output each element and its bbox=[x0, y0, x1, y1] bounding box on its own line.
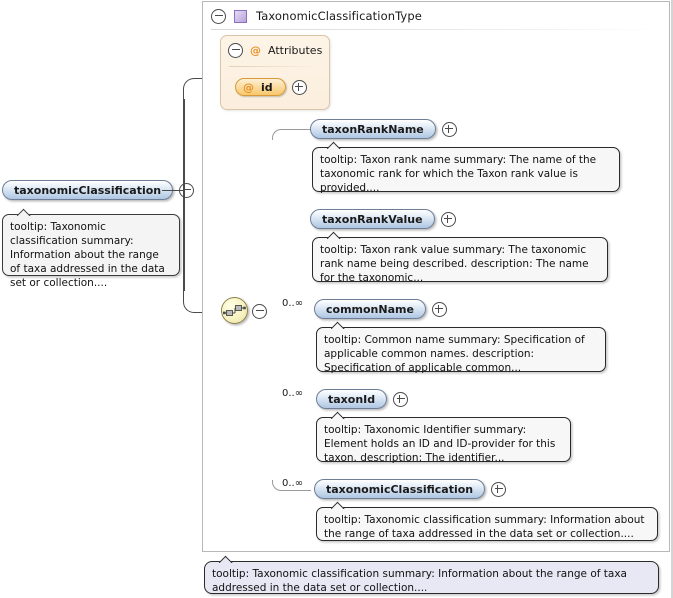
element-label-taxonomicClassification[interactable]: taxonomicClassification bbox=[314, 479, 485, 499]
element-expand-plus-icon[interactable] bbox=[393, 392, 408, 407]
tooltip-tail bbox=[17, 208, 31, 216]
at-symbol-icon: @ bbox=[250, 44, 261, 57]
root-element-label[interactable]: taxonomicClassification bbox=[2, 180, 173, 200]
element-node-taxonomicClassification[interactable]: taxonomicClassification bbox=[314, 479, 506, 499]
connector-vertical-down bbox=[183, 189, 185, 291]
header-divider bbox=[211, 29, 661, 30]
tree-corner-top bbox=[272, 129, 311, 140]
attributes-header: @ Attributes bbox=[228, 43, 322, 58]
element-tooltip-text: tooltip: Taxonomic Identifier summary: E… bbox=[324, 424, 555, 464]
tooltip-tail bbox=[331, 411, 345, 419]
cardinality-taxonId: 0..∞ bbox=[282, 388, 303, 399]
root-element-tooltip-text: tooltip: Taxonomic classification summar… bbox=[10, 221, 165, 289]
type-title: TaxonomicClassificationType bbox=[256, 9, 422, 23]
attribute-expand-plus-icon[interactable] bbox=[292, 80, 307, 95]
element-label-taxonId[interactable]: taxonId bbox=[316, 389, 387, 409]
element-expand-plus-icon[interactable] bbox=[442, 122, 457, 137]
at-symbol-icon: @ bbox=[243, 81, 254, 94]
attributes-label: Attributes bbox=[268, 44, 322, 57]
element-expand-plus-icon[interactable] bbox=[441, 212, 456, 227]
attribute-pill-id[interactable]: @ id bbox=[235, 78, 286, 96]
tooltip-tail bbox=[331, 321, 345, 329]
connector-vertical-up bbox=[183, 99, 185, 190]
element-tooltip-taxonRankName: tooltip: Taxon rank name summary: The na… bbox=[312, 147, 620, 192]
element-tooltip-text: tooltip: Common name summary: Specificat… bbox=[324, 334, 585, 374]
bottom-panel-tooltip-text: tooltip: Taxonomic classification summar… bbox=[212, 568, 627, 594]
tooltip-tail bbox=[331, 501, 345, 509]
attributes-box: @ Attributes @ id bbox=[220, 35, 330, 110]
bottom-panel-tooltip: tooltip: Taxonomic classification summar… bbox=[204, 561, 659, 594]
element-expand-plus-icon[interactable] bbox=[432, 302, 447, 317]
attribute-name-id: id bbox=[261, 81, 273, 94]
sequence-compositor-icon[interactable] bbox=[221, 297, 248, 324]
root-element-tooltip: tooltip: Taxonomic classification summar… bbox=[2, 214, 180, 276]
attributes-collapse-minus-icon[interactable] bbox=[228, 43, 243, 58]
element-tooltip-text: tooltip: Taxon rank name summary: The na… bbox=[320, 154, 596, 194]
cardinality-commonName: 0..∞ bbox=[282, 298, 303, 309]
element-node-taxonId[interactable]: taxonId bbox=[316, 389, 408, 409]
element-node-commonName[interactable]: commonName bbox=[314, 299, 447, 319]
element-expand-plus-icon[interactable] bbox=[491, 482, 506, 497]
type-header: TaxonomicClassificationType bbox=[203, 2, 669, 30]
tooltip-tail bbox=[219, 555, 233, 563]
attribute-row-id[interactable]: @ id bbox=[235, 78, 307, 96]
tree-branch-taxonId bbox=[0, 354, 44, 355]
tooltip-tail bbox=[327, 231, 341, 239]
element-tooltip-text: tooltip: Taxonomic classification summar… bbox=[324, 514, 645, 540]
element-label-taxonRankValue[interactable]: taxonRankValue bbox=[310, 209, 435, 229]
element-tooltip-taxonId: tooltip: Taxonomic Identifier summary: E… bbox=[316, 417, 571, 462]
type-collapse-minus-icon[interactable] bbox=[211, 9, 226, 24]
element-node-taxonRankValue[interactable]: taxonRankValue bbox=[310, 209, 456, 229]
sequence-glyph-icon bbox=[222, 298, 247, 323]
sequence-collapse-minus-icon[interactable] bbox=[252, 304, 267, 319]
cardinality-taxonomicClassification: 0..∞ bbox=[282, 478, 303, 489]
element-label-taxonRankName[interactable]: taxonRankName bbox=[310, 119, 436, 139]
element-tooltip-text: tooltip: Taxon rank value summary: The t… bbox=[320, 244, 589, 284]
element-tooltip-taxonRankValue: tooltip: Taxon rank value summary: The t… bbox=[312, 237, 608, 282]
element-label-commonName[interactable]: commonName bbox=[314, 299, 426, 319]
element-tooltip-taxonomicClassification: tooltip: Taxonomic classification summar… bbox=[316, 507, 658, 541]
tree-vertical-spine bbox=[0, 0, 1, 352]
element-node-taxonRankName[interactable]: taxonRankName bbox=[310, 119, 457, 139]
complex-type-icon bbox=[234, 10, 247, 23]
attributes-divider bbox=[229, 66, 315, 67]
root-connector-stub bbox=[162, 190, 184, 192]
element-tooltip-commonName: tooltip: Common name summary: Specificat… bbox=[316, 327, 606, 372]
tooltip-tail bbox=[327, 141, 341, 149]
